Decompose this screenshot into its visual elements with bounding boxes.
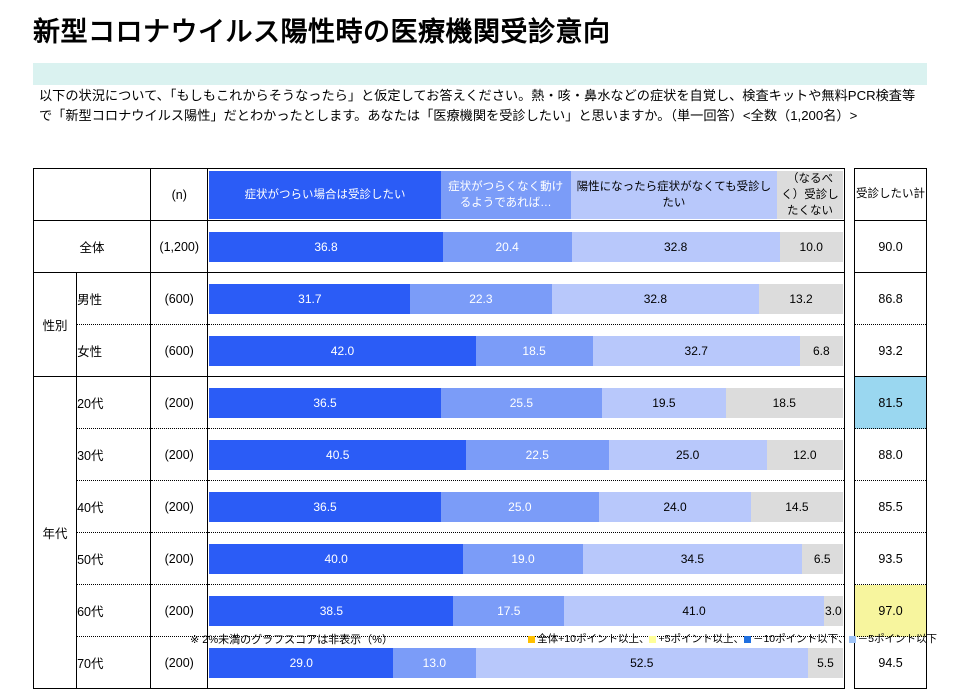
lead-paragraph: 以下の状況について、「もしもこれからそうなったら」と仮定してお答えください。熱・… [39, 86, 925, 125]
bar-segment-2: 25.0 [441, 492, 599, 522]
bar-segment-4: 12.0 [767, 440, 843, 470]
bar-segment-1: 40.0 [209, 544, 462, 574]
bar-segment-2: 20.4 [443, 232, 572, 262]
bar-segment-1: 31.7 [209, 284, 410, 314]
stacked-bar: 36.525.519.518.5 [209, 388, 842, 418]
bar-segment-3: 25.0 [609, 440, 767, 470]
row-gap-cell [844, 221, 854, 273]
bar-segment-4: 3.0 [824, 596, 843, 626]
row-total-value: 97.0 [855, 585, 927, 637]
stacked-bar: 36.820.432.810.0 [209, 232, 842, 262]
table-row: 性別男性(600)31.722.332.813.286.8 [34, 273, 927, 325]
header-n-cell: (n) [151, 169, 208, 221]
page-title: 新型コロナウイルス陽性時の医療機関受診意向 [33, 10, 611, 49]
bar-segment-3: 32.7 [593, 336, 800, 366]
bar-segment-2: 19.0 [463, 544, 583, 574]
group-label-age: 年代 [34, 377, 77, 689]
row-gap-cell [844, 377, 854, 429]
row-gap-cell [844, 273, 854, 325]
bar-segment-3: 19.5 [602, 388, 726, 418]
row-label-30代: 30代 [77, 429, 151, 481]
header-n-label: (n) [172, 188, 187, 202]
table-row: 50代(200)40.019.034.56.593.5 [34, 533, 927, 585]
row-label-男性: 男性 [77, 273, 151, 325]
bar-segment-1: 36.5 [209, 388, 440, 418]
legend-label-minus10: －10ポイント以下、 [753, 633, 849, 645]
row-label-女性: 女性 [77, 325, 151, 377]
bar-segment-1: 42.0 [209, 336, 475, 366]
row-total-value: 93.5 [855, 533, 927, 585]
table-row: 年代20代(200)36.525.519.518.581.5 [34, 377, 927, 429]
row-total-value: 90.0 [855, 221, 927, 273]
group-label-gender: 性別 [34, 273, 77, 377]
bar-segment-4: 5.5 [808, 648, 843, 678]
row-label-total: 全体 [34, 221, 151, 273]
row-label-20代: 20代 [77, 377, 151, 429]
bar-segment-4: 14.5 [751, 492, 843, 522]
row-stacked-bar-cell: 38.517.541.03.0 [208, 585, 844, 637]
bar-segment-2: 25.5 [441, 388, 603, 418]
row-stacked-bar-cell: 36.820.432.810.0 [208, 221, 844, 273]
bar-segment-2: 22.3 [410, 284, 551, 314]
row-stacked-bar-cell: 42.018.532.76.8 [208, 325, 844, 377]
row-label-60代: 60代 [77, 585, 151, 637]
legend-swatch-plus5 [649, 636, 656, 643]
bar-segment-3: 32.8 [552, 284, 760, 314]
table-row: 60代(200)38.517.541.03.097.0 [34, 585, 927, 637]
row-gap-cell [844, 429, 854, 481]
bar-segment-3: 24.0 [599, 492, 751, 522]
legend-header-segment-1: 症状がつらい場合は受診したい [209, 171, 440, 219]
bar-segment-2: 22.5 [466, 440, 609, 470]
bar-segment-1: 40.5 [209, 440, 466, 470]
row-total-value: 93.2 [855, 325, 927, 377]
row-total-value: 86.8 [855, 273, 927, 325]
header-blank-cell [34, 169, 151, 221]
legend-header-segment-4: （なるべく）受診したくない [777, 171, 843, 219]
stacked-bar: 40.019.034.56.5 [209, 544, 842, 574]
row-n-value: (600) [151, 325, 208, 377]
row-label-40代: 40代 [77, 481, 151, 533]
bar-segment-1: 38.5 [209, 596, 453, 626]
survey-table-wrapper: (n)症状がつらい場合は受診したい症状がつらくなく動けるようであれば…陽性になっ… [33, 168, 927, 689]
bar-segment-4: 18.5 [726, 388, 843, 418]
bar-segment-4: 6.8 [800, 336, 843, 366]
row-gap-cell [844, 325, 854, 377]
bar-segment-1: 29.0 [209, 648, 393, 678]
legend-label-plus5: +5ポイント以上、 [658, 633, 743, 645]
row-stacked-bar-cell: 36.525.519.518.5 [208, 377, 844, 429]
bar-segment-2: 17.5 [453, 596, 564, 626]
table-header-row: (n)症状がつらい場合は受診したい症状がつらくなく動けるようであれば…陽性になっ… [34, 169, 927, 221]
bar-segment-3: 34.5 [583, 544, 802, 574]
table-row: 女性(600)42.018.532.76.893.2 [34, 325, 927, 377]
stacked-bar: 40.522.525.012.0 [209, 440, 842, 470]
legend-header-segment-2: 症状がつらくなく動けるようであれば… [441, 171, 571, 219]
row-stacked-bar-cell: 31.722.332.813.2 [208, 273, 844, 325]
row-label-70代: 70代 [77, 637, 151, 689]
bar-segment-1: 36.5 [209, 492, 440, 522]
diff-legend: 全体+10ポイント以上、+5ポイント以上、－10ポイント以下、－5ポイント以下 [528, 631, 937, 646]
bar-segment-3: 32.8 [572, 232, 780, 262]
bar-segment-4: 10.0 [780, 232, 843, 262]
stacked-bar: 31.722.332.813.2 [209, 284, 842, 314]
header-total-cell: 受診したい計 [855, 169, 927, 221]
row-gap-cell [844, 585, 854, 637]
bar-segment-2: 13.0 [393, 648, 475, 678]
row-stacked-bar-cell: 36.525.024.014.5 [208, 481, 844, 533]
row-gap-cell [844, 481, 854, 533]
row-n-value: (600) [151, 273, 208, 325]
legend-header-cell: 症状がつらい場合は受診したい症状がつらくなく動けるようであれば…陽性になったら症… [208, 169, 844, 221]
bar-segment-4: 13.2 [759, 284, 843, 314]
legend-swatch-minus5 [849, 636, 856, 643]
stacked-bar: 29.013.052.55.5 [209, 648, 842, 678]
survey-table: (n)症状がつらい場合は受診したい症状がつらくなく動けるようであれば…陽性になっ… [33, 168, 927, 689]
legend-header-segment-3: 陽性になったら症状がなくても受診したい [571, 171, 778, 219]
row-stacked-bar-cell: 40.522.525.012.0 [208, 429, 844, 481]
stacked-bar: 36.525.024.014.5 [209, 492, 842, 522]
row-n-value: (200) [151, 481, 208, 533]
bar-segment-4: 6.5 [802, 544, 843, 574]
legend-label-plus10: 全体+10ポイント以上、 [537, 633, 649, 645]
legend-swatch-plus10 [528, 636, 535, 643]
bar-segment-2: 18.5 [476, 336, 593, 366]
accent-band [33, 63, 927, 85]
table-row: 全体(1,200)36.820.432.810.090.0 [34, 221, 927, 273]
stacked-bar: 42.018.532.76.8 [209, 336, 842, 366]
row-stacked-bar-cell: 40.019.034.56.5 [208, 533, 844, 585]
bar-segment-3: 41.0 [564, 596, 824, 626]
row-n-value: (1,200) [151, 221, 208, 273]
row-n-value: (200) [151, 377, 208, 429]
footnote: ※ 2%未満のグラフスコアは非表示（%） [190, 631, 393, 647]
bar-segment-1: 36.8 [209, 232, 442, 262]
row-n-value: (200) [151, 429, 208, 481]
row-total-value: 81.5 [855, 377, 927, 429]
row-gap-cell [844, 533, 854, 585]
row-label-50代: 50代 [77, 533, 151, 585]
legend-label-minus5: －5ポイント以下 [858, 633, 937, 645]
row-total-value: 85.5 [855, 481, 927, 533]
row-total-value: 88.0 [855, 429, 927, 481]
bar-segment-3: 52.5 [476, 648, 809, 678]
table-row: 30代(200)40.522.525.012.088.0 [34, 429, 927, 481]
row-n-value: (200) [151, 533, 208, 585]
legend-swatch-minus10 [744, 636, 751, 643]
header-gap-cell [844, 169, 854, 221]
row-n-value: (200) [151, 585, 208, 637]
stacked-bar: 38.517.541.03.0 [209, 596, 842, 626]
table-row: 40代(200)36.525.024.014.585.5 [34, 481, 927, 533]
